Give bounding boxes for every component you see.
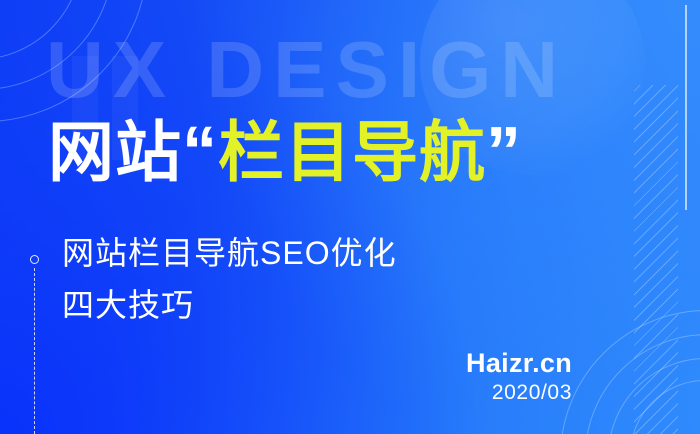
publish-date: 2020/03 [466, 379, 572, 406]
brand-name: Haizr.cn [466, 348, 572, 378]
subtitle: 网站栏目导航SEO优化 四大技巧 [62, 228, 397, 332]
headline-open-quote: “ [182, 112, 218, 190]
vertical-accent-line-decoration [685, 5, 687, 210]
subtitle-line-two: 四大技巧 [62, 280, 397, 332]
poster-canvas: UX DESIGN 网站“栏目导航” 网站栏目导航SEO优化 四大技巧 Haiz… [0, 0, 700, 434]
headline-lead-text: 网站 [48, 115, 182, 189]
subtitle-line-one: 网站栏目导航SEO优化 [62, 228, 397, 280]
diagonal-stripes-decoration [634, 85, 678, 434]
arc-bottom-right-outer-decoration [560, 310, 700, 434]
vertical-dashed-line-decoration [34, 268, 35, 434]
arc-bottom-right-third-decoration [585, 334, 700, 434]
dashed-line-dot-icon [30, 255, 39, 264]
arc-bottom-right-second-decoration [608, 358, 700, 434]
headline-close-quote: ” [486, 112, 522, 190]
headline-accent-text: 栏目导航 [218, 115, 486, 189]
arc-bottom-right-inner-decoration [630, 380, 700, 434]
footer: Haizr.cn 2020/03 [466, 348, 572, 406]
background-watermark-text: UX DESIGN [46, 30, 567, 110]
headline: 网站“栏目导航” [48, 116, 522, 187]
